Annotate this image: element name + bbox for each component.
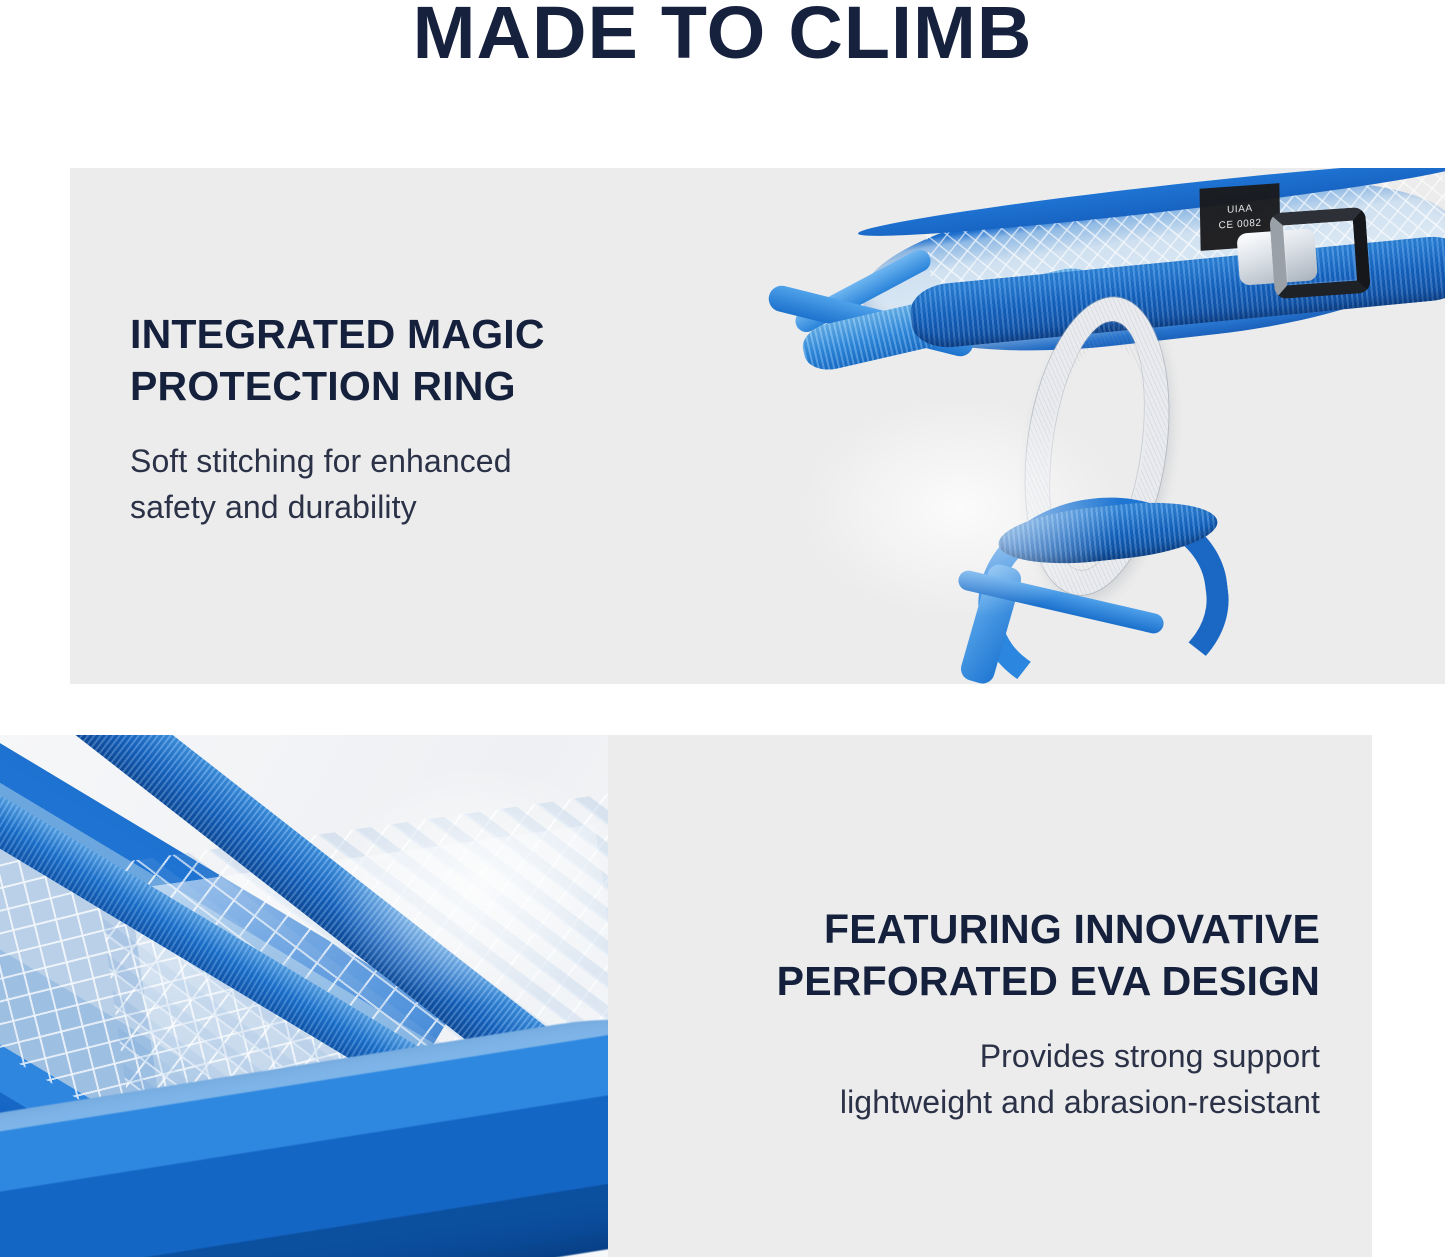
feature-two-heading-line-1: FEATURING INNOVATIVE (640, 903, 1320, 955)
feature-one-body: Soft stitching for enhanced safety and d… (130, 438, 670, 530)
perforated-eva-mesh-photo (0, 735, 608, 1257)
feature-one-heading-line-1: INTEGRATED MAGIC (130, 308, 670, 360)
feature-one-heading: INTEGRATED MAGIC PROTECTION RING (130, 308, 670, 412)
harness-metal-buckle (1269, 207, 1371, 299)
feature-two-body-line-2: lightweight and abrasion-resistant (640, 1079, 1320, 1125)
feature-panel-two-text-block: FEATURING INNOVATIVE PERFORATED EVA DESI… (640, 903, 1320, 1125)
feature-two-body: Provides strong support lightweight and … (640, 1033, 1320, 1125)
feature-two-body-line-1: Provides strong support (640, 1033, 1320, 1079)
feature-panel-eva-design: FEATURING INNOVATIVE PERFORATED EVA DESI… (0, 735, 1372, 1257)
feature-one-body-line-2: safety and durability (130, 484, 670, 530)
feature-panel-one-text-block: INTEGRATED MAGIC PROTECTION RING Soft st… (130, 308, 670, 530)
feature-two-heading: FEATURING INNOVATIVE PERFORATED EVA DESI… (640, 903, 1320, 1007)
buckle-ring (1269, 207, 1371, 299)
harness-protection-ring-photo: UIAA CE 0082 (760, 168, 1445, 684)
page-title: MADE TO CLIMB (0, 0, 1445, 70)
feature-one-heading-line-2: PROTECTION RING (130, 360, 670, 412)
feature-panel-protection-ring: INTEGRATED MAGIC PROTECTION RING Soft st… (70, 168, 1445, 684)
feature-two-heading-line-2: PERFORATED EVA DESIGN (640, 955, 1320, 1007)
feature-one-body-line-1: Soft stitching for enhanced (130, 438, 670, 484)
